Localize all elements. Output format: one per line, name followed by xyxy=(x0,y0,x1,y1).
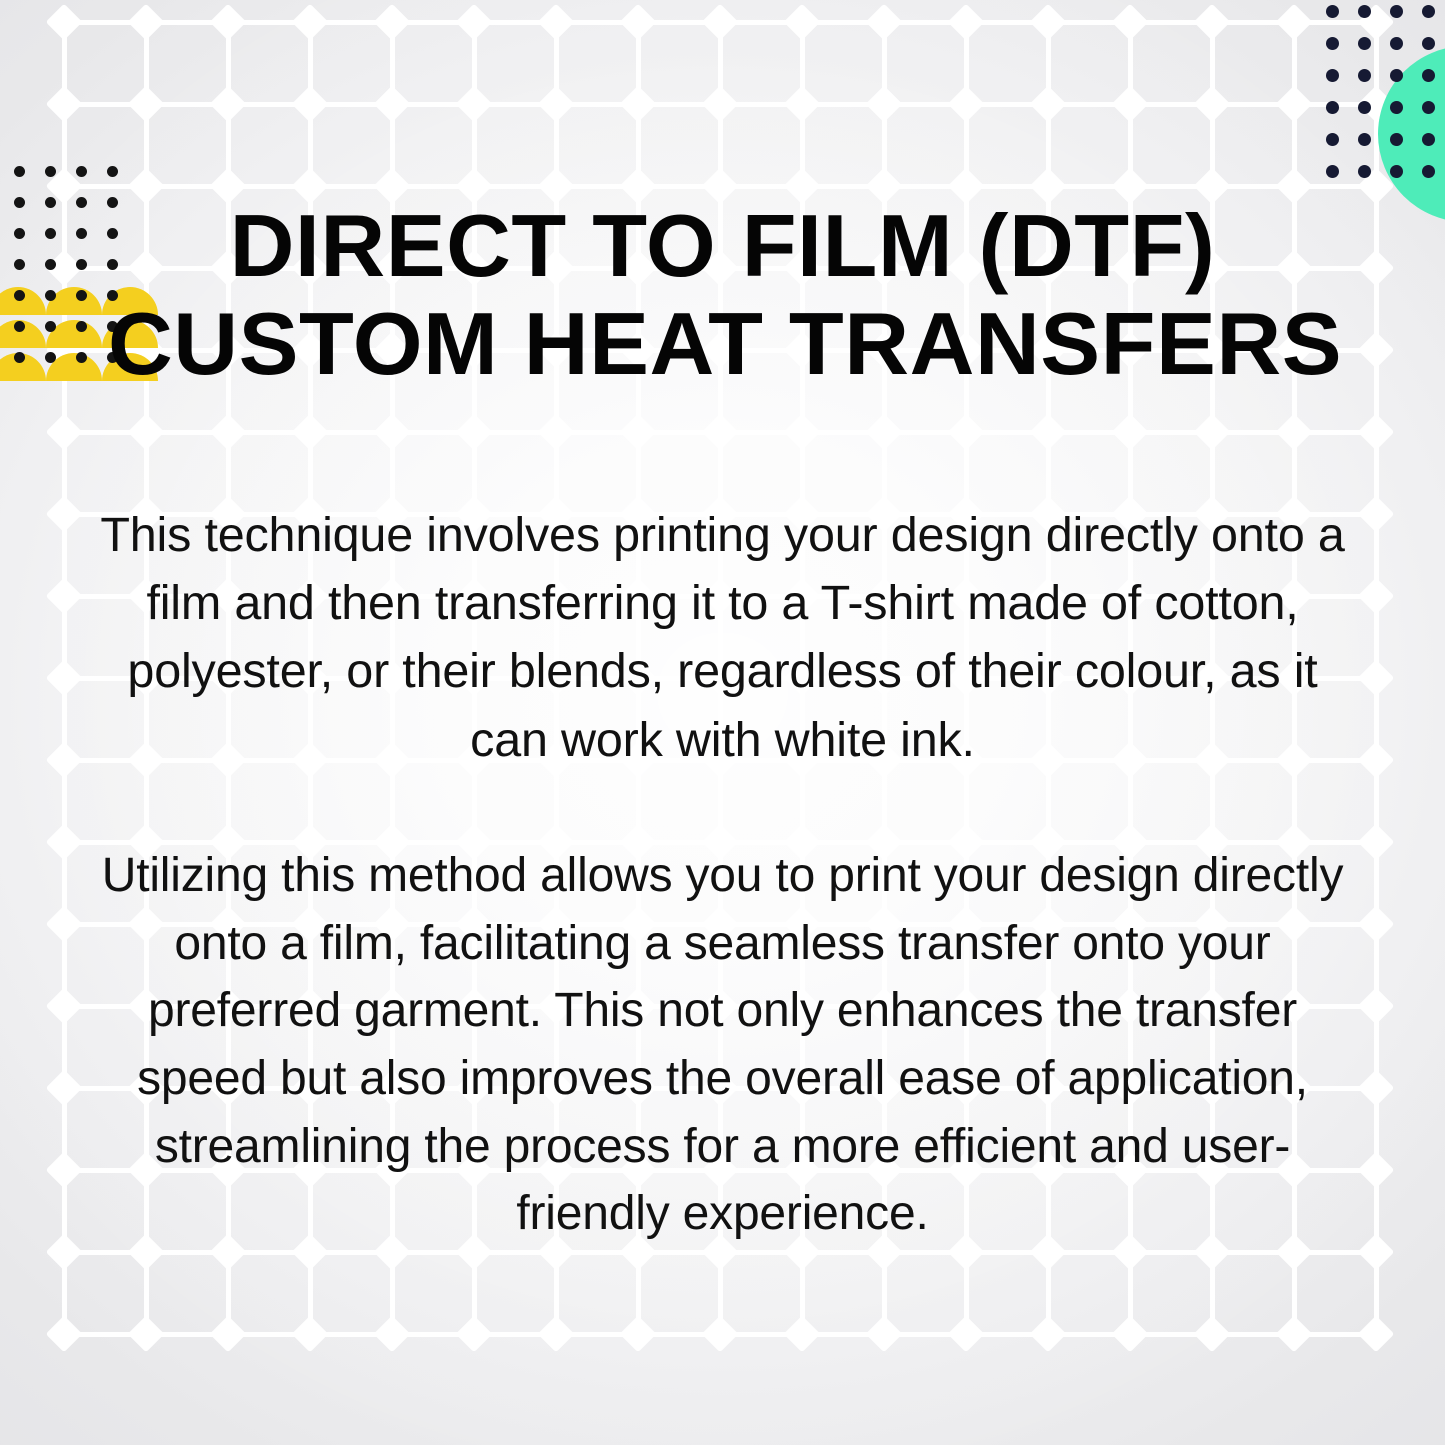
paragraph-line: friendly experience. xyxy=(96,1180,1349,1248)
paragraph-line: This technique involves printing your de… xyxy=(96,501,1349,569)
paragraph-line: polyester, or their blends, regardless o… xyxy=(96,637,1349,705)
paragraph-line: preferred garment. This not only enhance… xyxy=(96,977,1349,1045)
title-line-2: CUSTOM HEAT TRANSFERS xyxy=(108,295,1337,393)
paragraph-line: onto a film, facilitating a seamless tra… xyxy=(96,910,1349,978)
paragraph-line: streamlining the process for a more effi… xyxy=(96,1113,1349,1181)
paragraph-2-text: Utilizing this method allows you to prin… xyxy=(96,842,1349,1248)
page-title: DIRECT TO FILM (DTF) CUSTOM HEAT TRANSFE… xyxy=(108,197,1337,393)
paragraph-line: speed but also improves the overall ease… xyxy=(96,1045,1349,1113)
paragraph-line: can work with white ink. xyxy=(96,706,1349,774)
poster-content: DIRECT TO FILM (DTF) CUSTOM HEAT TRANSFE… xyxy=(0,0,1445,1445)
title-line-1: DIRECT TO FILM (DTF) xyxy=(108,197,1337,295)
paragraph-1: This technique involves printing your de… xyxy=(96,452,1349,823)
paragraph-line: Utilizing this method allows you to prin… xyxy=(96,842,1349,910)
paragraph-line: film and then transferring it to a T-shi… xyxy=(96,569,1349,637)
poster-canvas: DIRECT TO FILM (DTF) CUSTOM HEAT TRANSFE… xyxy=(0,0,1445,1445)
paragraph-2: Utilizing this method allows you to prin… xyxy=(96,794,1349,1296)
paragraph-1-text: This technique involves printing your de… xyxy=(96,501,1349,775)
